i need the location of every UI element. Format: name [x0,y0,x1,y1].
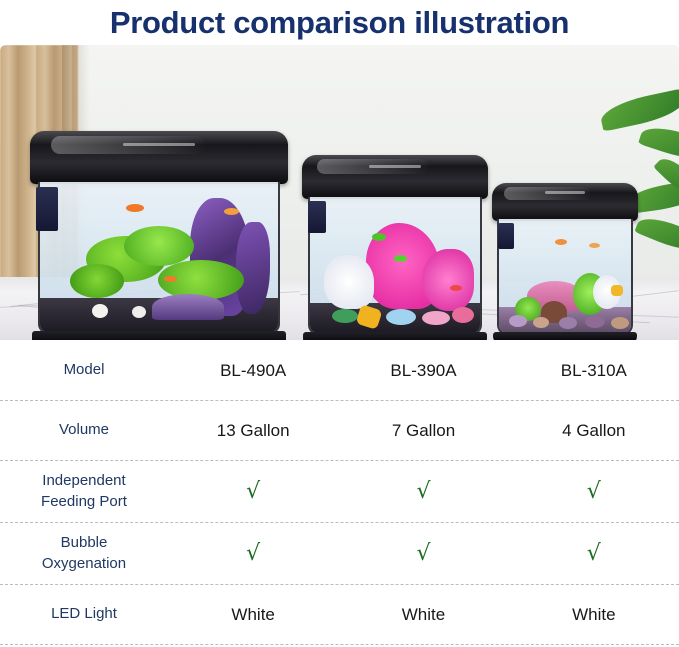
table-row-volume: Volume 13 Gallon 7 Gallon 4 Gallon [0,401,679,461]
cell-volume-bl-490a: 13 Gallon [168,401,338,460]
tank-base [493,332,637,340]
shell-decor [452,307,474,323]
pebble-decor [533,317,549,328]
fish-icon [126,204,144,212]
aquarium-medium [300,155,490,340]
comparison-table: Model BL-490A BL-390A BL-310A Volume 13 … [0,341,679,645]
page-title: Product comparison illustration [110,7,569,38]
aquarium-small [490,183,640,340]
cell-feeding-port-bl-310a: √ [509,461,679,522]
fish-icon [589,243,600,248]
cell-bubble-oxygenation-bl-490a: √ [168,523,338,584]
fish-icon [164,276,177,282]
tank-glass [38,182,280,334]
tank-filter [498,223,514,249]
cell-feeding-port-bl-490a: √ [168,461,338,522]
check-icon: √ [416,543,430,565]
check-icon: √ [246,481,260,503]
tank-base [32,331,286,340]
page-header: Product comparison illustration [0,0,679,45]
cell-volume-bl-390a: 7 Gallon [338,401,508,460]
aquarium-large [28,131,290,340]
row-label-line2: Feeding Port [41,492,127,512]
row-label-line1: Independent [42,471,125,491]
purple-rock-decor [236,222,270,314]
table-row-led-light: LED Light White White White [0,585,679,645]
pink-coral-decor [422,249,474,311]
row-label-line1: Model [64,360,105,380]
tank-glass [308,197,482,335]
row-label-line1: Volume [59,420,109,440]
table-row-independent-feeding-port: Independent Feeding Port √ √ √ [0,461,679,523]
fish-icon [224,208,239,215]
check-icon: √ [246,543,260,565]
fish-icon [450,285,462,291]
row-label-independent-feeding-port: Independent Feeding Port [0,461,168,522]
row-label-line1: Bubble [61,533,108,553]
shell-decor [332,309,358,323]
green-plant-decor [70,264,124,298]
row-label-model: Model [0,341,168,400]
product-photo: BL-490A BL-390A BL-310A [0,45,679,340]
row-label-led-light: LED Light [0,585,168,644]
lid-highlight [51,136,206,154]
cell-feeding-port-bl-390a: √ [338,461,508,522]
tank-glass [497,219,633,335]
row-label-bubble-oxygenation: Bubble Oxygenation [0,523,168,584]
cell-bubble-oxygenation-bl-390a: √ [338,523,508,584]
cell-volume-bl-310a: 4 Gallon [509,401,679,460]
tank-base [303,332,487,340]
tank-filter [36,187,58,231]
shell-decor [422,311,450,325]
tank-lid [492,183,638,221]
pebble-decor [509,315,527,327]
lid-highlight [317,159,429,174]
check-icon: √ [416,481,430,503]
tank-filter [308,201,326,233]
row-label-line1: LED Light [51,604,117,624]
cell-led-light-bl-490a: White [168,585,338,644]
white-coral-decor [324,255,374,309]
shell-decor [132,306,146,318]
table-row-bubble-oxygenation: Bubble Oxygenation √ √ √ [0,523,679,585]
green-plant-decor [124,226,194,266]
tank-lid [30,131,288,184]
row-label-line2: Oxygenation [42,554,126,574]
fish-icon [555,239,567,245]
check-icon: √ [587,543,601,565]
fish-icon [372,233,386,241]
stone-bridge-decor [152,294,224,320]
cell-model-bl-310a: BL-310A [509,341,679,400]
pebble-decor [559,317,577,329]
cell-model-bl-490a: BL-490A [168,341,338,400]
tank-lid [302,155,488,199]
cell-model-bl-390a: BL-390A [338,341,508,400]
shell-decor [386,309,416,325]
check-icon: √ [587,481,601,503]
lid-highlight [504,187,592,200]
cell-led-light-bl-390a: White [338,585,508,644]
row-label-volume: Volume [0,401,168,460]
shell-decor [92,304,108,318]
table-row-model: Model BL-490A BL-390A BL-310A [0,341,679,401]
pebble-decor [611,317,629,329]
cell-bubble-oxygenation-bl-310a: √ [509,523,679,584]
pebble-decor [585,315,605,328]
cell-led-light-bl-310a: White [509,585,679,644]
fish-icon [394,255,407,262]
starfish-decor [611,285,623,296]
